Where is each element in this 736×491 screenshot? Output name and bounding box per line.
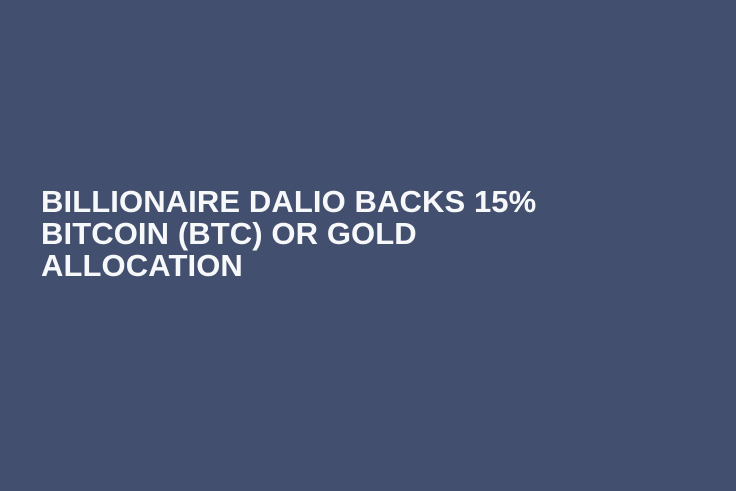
- headline-line-1: BILLIONAIRE DALIO BACKS 15%: [41, 186, 641, 218]
- headline-card: BILLIONAIRE DALIO BACKS 15% BITCOIN (BTC…: [0, 0, 736, 491]
- page-title: BILLIONAIRE DALIO BACKS 15% BITCOIN (BTC…: [41, 186, 641, 282]
- headline-line-3: ALLOCATION: [41, 250, 641, 282]
- headline-line-2: BITCOIN (BTC) OR GOLD: [41, 218, 641, 250]
